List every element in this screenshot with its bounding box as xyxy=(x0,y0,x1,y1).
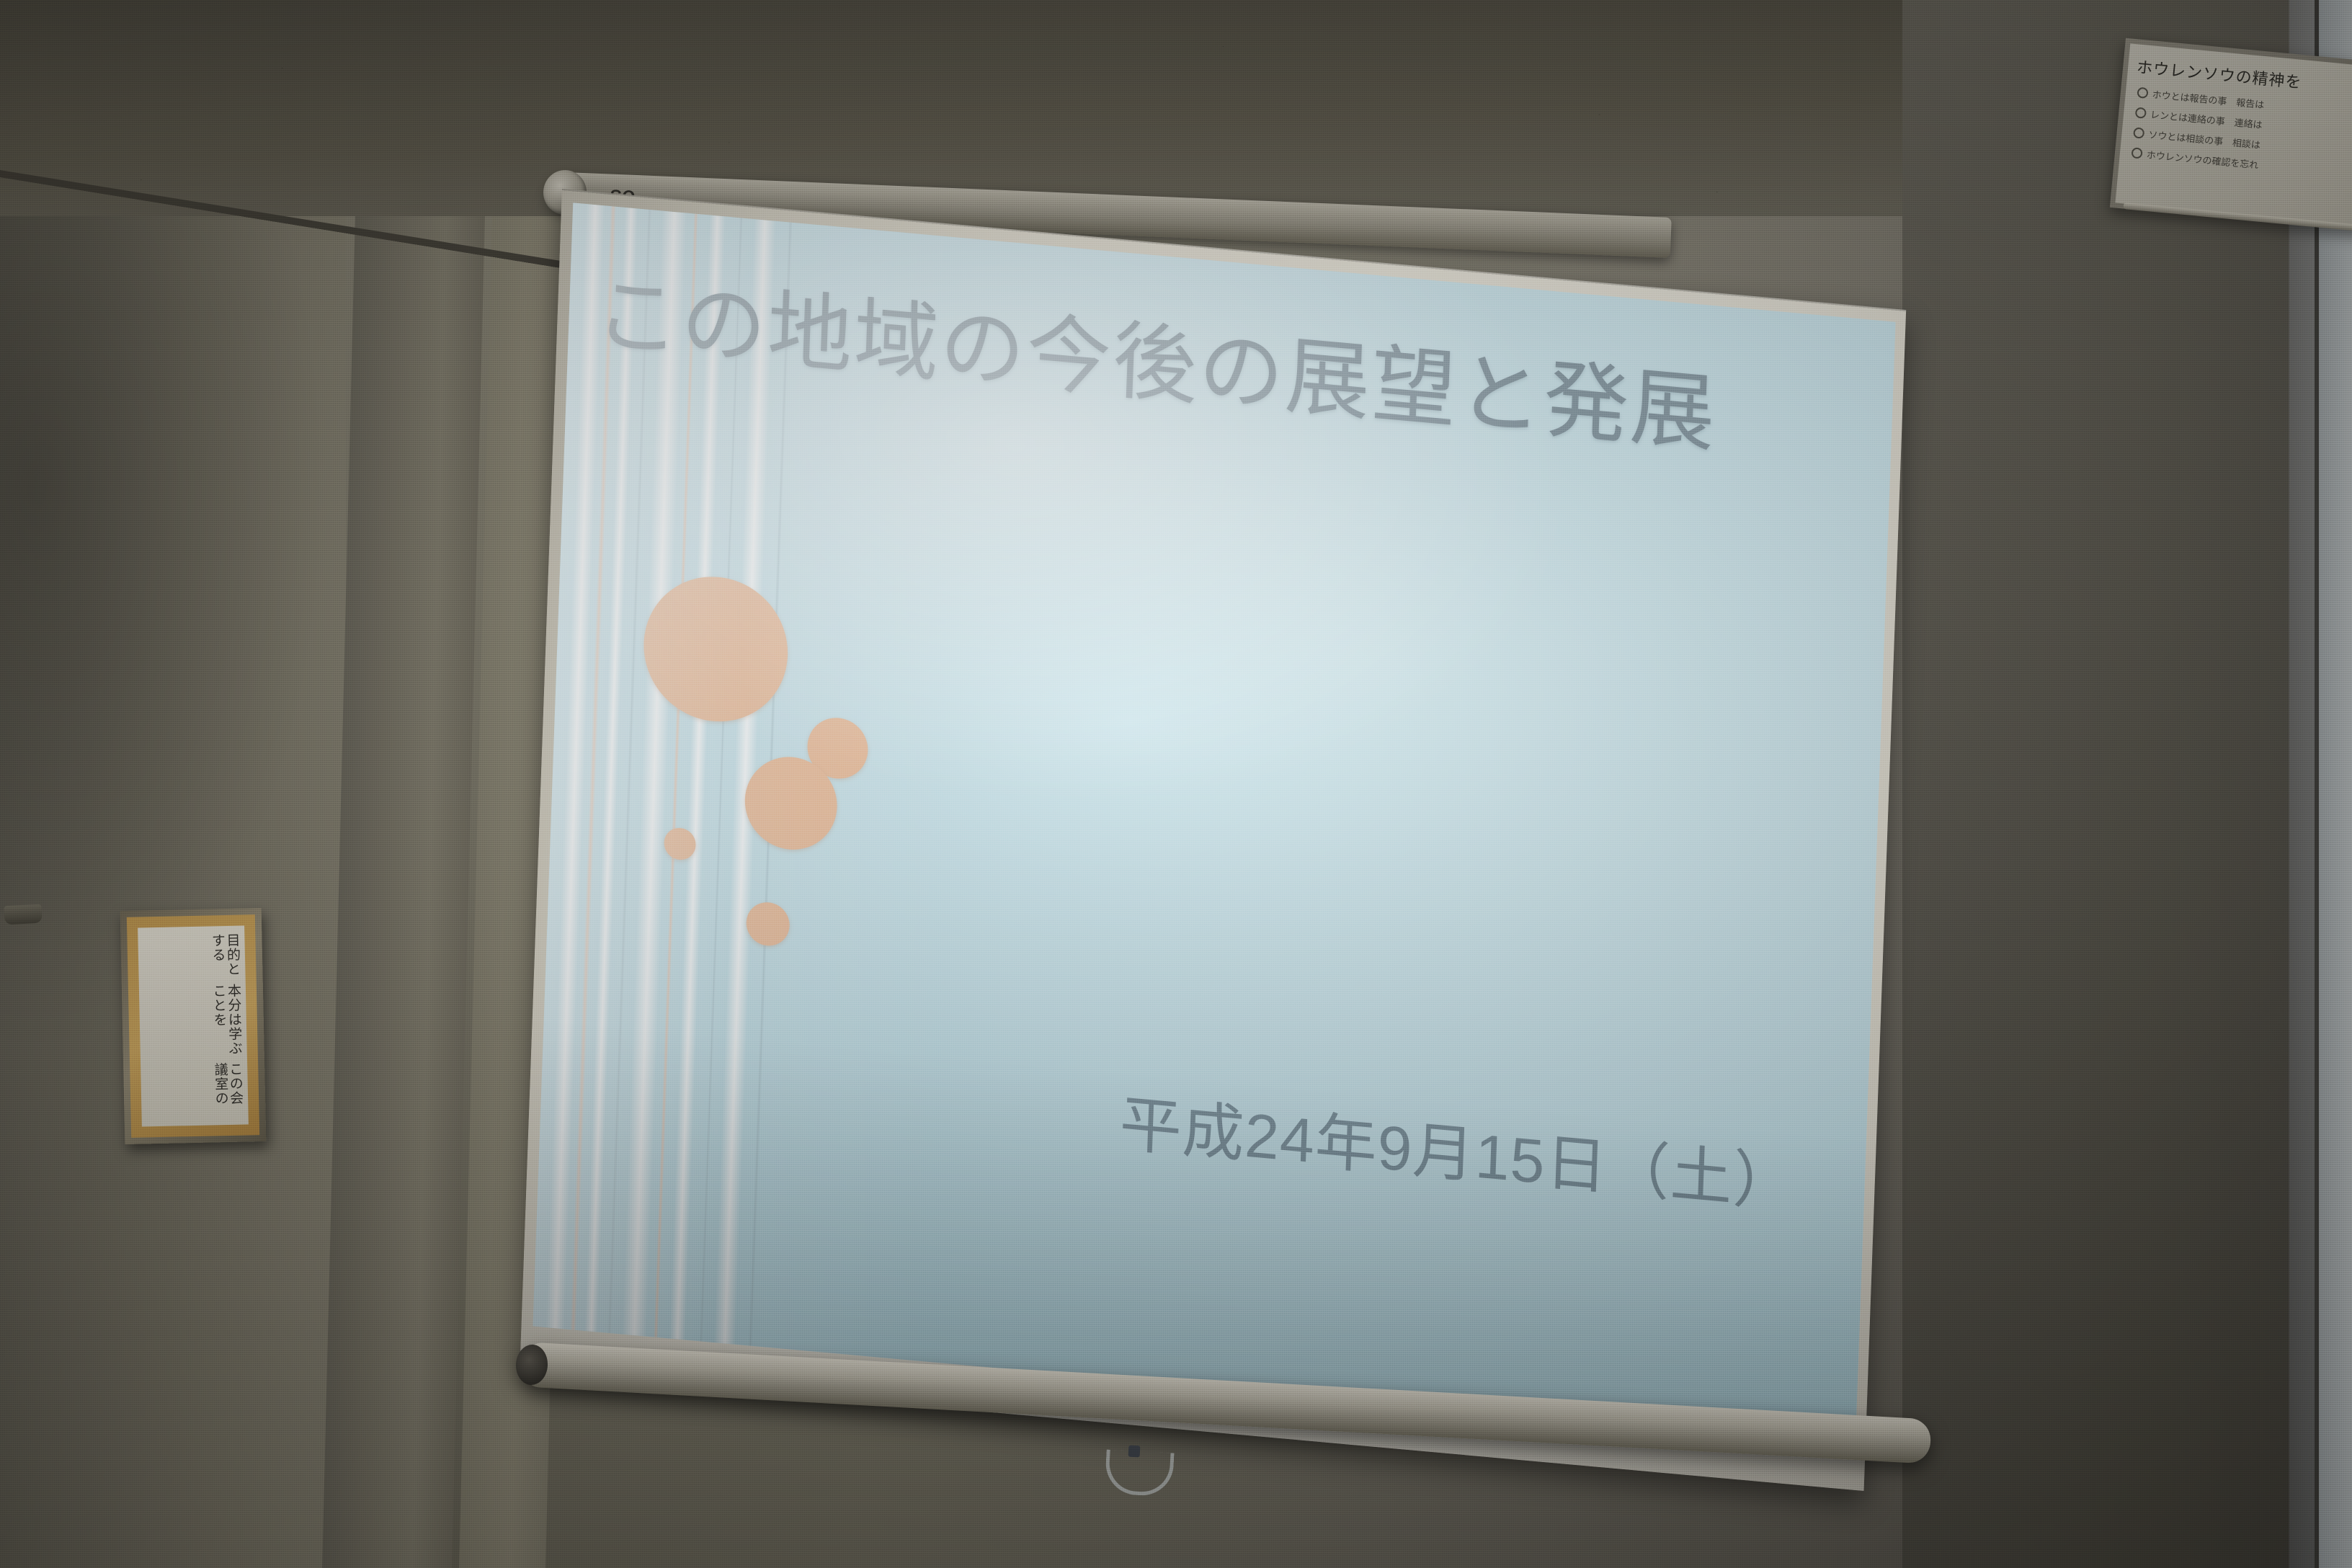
wall-fixture xyxy=(4,904,42,925)
slide-date: 平成24年9月15日（土） xyxy=(1118,1073,1797,1224)
slide-vignette xyxy=(533,202,1896,1445)
projector-hotspot xyxy=(533,202,1896,1445)
bullet-icon xyxy=(2137,87,2148,99)
pull-ring-mount xyxy=(1128,1445,1141,1458)
calligraphy-line-2: 本分は学ぶことを xyxy=(145,983,241,1061)
slide-stripe-decor xyxy=(533,202,811,1347)
circle-tiny xyxy=(664,827,696,861)
poster-item-label: ホウレンソウの確認を忘れ xyxy=(2146,147,2259,171)
framed-calligraphy: この会議室の 本分は学ぶことを 目的とする xyxy=(120,908,267,1144)
screen-fabric: この地域の今後の展望と発展 平成24年9月15日（土） xyxy=(520,189,1906,1491)
poster-item-label: レンとは連絡の事 連絡は xyxy=(2150,107,2263,131)
calligraphy-text: この会議室の 本分は学ぶことを 目的とする xyxy=(138,925,249,1126)
poster-paper: ホウレンソウの精神を ホウとは報告の事 報告は レンとは連絡の事 連絡は ソウと… xyxy=(2115,43,2352,230)
circle-xsmall xyxy=(746,901,790,948)
poster-item-label: ソウとは相談の事 相談は xyxy=(2148,127,2261,151)
right-wall-plane xyxy=(1902,0,2352,1568)
circle-large xyxy=(641,571,790,728)
frame-mat: この会議室の 本分は学ぶことを 目的とする xyxy=(127,914,259,1138)
slide-stripe xyxy=(700,218,743,1341)
slide-title: この地域の今後の展望と発展 xyxy=(593,244,1719,468)
slide-stripe xyxy=(714,219,776,1345)
slide-stripe xyxy=(654,214,698,1338)
room-corner-edge xyxy=(2315,0,2352,1568)
bullet-icon xyxy=(2133,127,2144,138)
slide-stripe xyxy=(584,208,638,1332)
circle-medium xyxy=(744,753,839,853)
frame-paper: この会議室の 本分は学ぶことを 目的とする xyxy=(138,925,249,1126)
slide-stripe xyxy=(622,211,687,1337)
poster-item-label: ホウとは報告の事 報告は xyxy=(2152,87,2265,112)
bullet-icon xyxy=(2131,147,2142,159)
poster-item-list: ホウとは報告の事 報告は レンとは連絡の事 連絡は ソウとは相談の事 相談は ホ… xyxy=(2131,86,2352,185)
slide-stripe xyxy=(669,215,726,1340)
slide-stripe xyxy=(749,222,793,1345)
projection-screen: この地域の今後の展望と発展 平成24年9月15日（土） xyxy=(520,189,1906,1491)
room-photo-scene: この会議室の 本分は学ぶことを 目的とする ホウレンソウの精神を ホウとは報告の… xyxy=(0,0,2352,1568)
slide-stripe xyxy=(607,210,651,1333)
calligraphy-line-1: この会議室の xyxy=(146,1062,243,1121)
left-wall-plane xyxy=(0,216,346,1568)
slide-stripe xyxy=(570,206,616,1330)
projected-slide: この地域の今後の展望と発展 平成24年9月15日（土） xyxy=(533,202,1896,1445)
bullet-icon xyxy=(2135,107,2147,119)
circle-small-right xyxy=(806,716,869,781)
slide-background xyxy=(533,202,1896,1445)
calligraphy-line-3: 目的とする xyxy=(143,933,239,983)
